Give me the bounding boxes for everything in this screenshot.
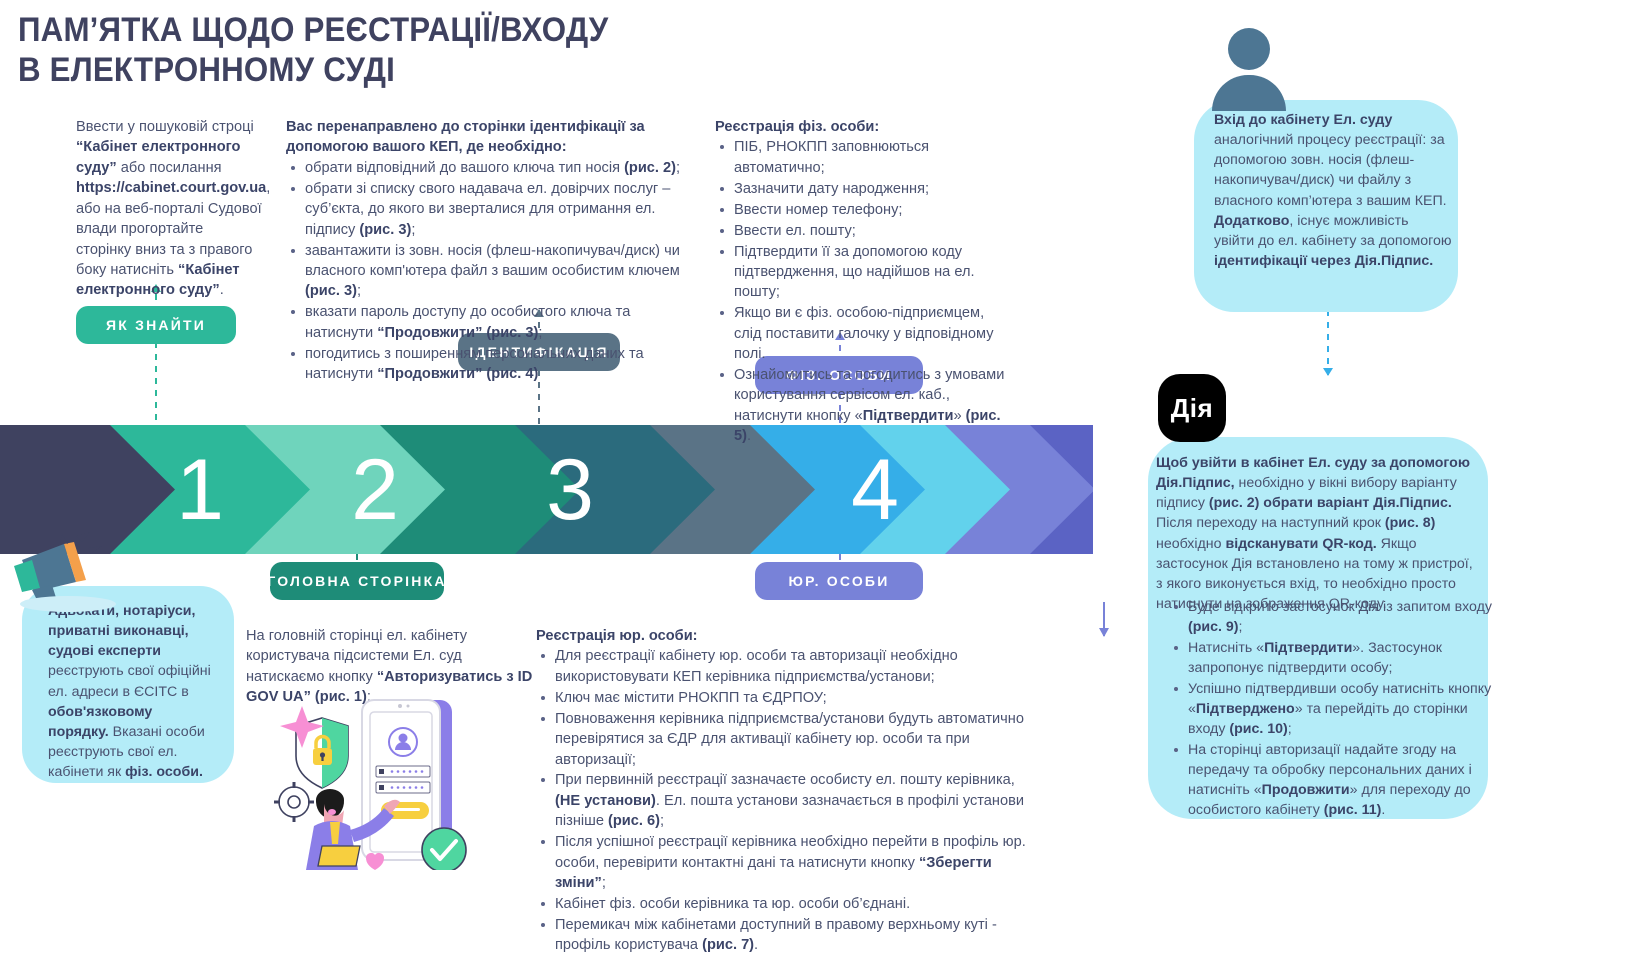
- step-number-2: 2: [330, 425, 420, 554]
- step-pill-label: ЯК ЗНАЙТИ: [106, 317, 206, 333]
- col3-bottom-heading: Реєстрація юр. особи:: [536, 626, 1042, 646]
- connector-dia: [1327, 310, 1329, 375]
- list-item: Кабінет фіз. особи керівника та юр. особ…: [553, 894, 1042, 914]
- col2-heading: Вас перенаправлено до сторінки ідентифік…: [286, 117, 700, 158]
- col2-list: обрати відповідний до вашого ключа тип н…: [286, 158, 700, 385]
- arrow-down-icon: [1099, 628, 1109, 637]
- card-dia-list: Буде відкрито застосунок Дія із запитом …: [1168, 597, 1494, 821]
- step-pill-label: ЮР. ОСОБИ: [789, 573, 890, 589]
- list-item: Перемикач між кабінетами доступний в пра…: [553, 915, 1042, 956]
- col2-text: Вас перенаправлено до сторінки ідентифік…: [286, 117, 700, 385]
- col3-heading: Реєстрація фіз. особи:: [715, 117, 1015, 137]
- card-dia-intro: Щоб увійти в кабінет Ел. суду за допомог…: [1156, 453, 1478, 614]
- dia-logo: Дія: [1158, 374, 1226, 442]
- page-title: ПАМ’ЯТКА ЩОДО РЕЄСТРАЦІЇ/ВХОДУ В ЕЛЕКТРО…: [18, 10, 608, 90]
- list-item: обрати зі списку свого надавача ел. дові…: [303, 179, 700, 240]
- list-item: Після успішної реєстрації керівника необ…: [553, 832, 1042, 893]
- connector-jur-arrow: [1103, 602, 1105, 636]
- step-pill-main-page[interactable]: ГОЛОВНА СТОРІНКА: [270, 562, 444, 600]
- list-item: обрати відповідний до вашого ключа тип н…: [303, 158, 700, 178]
- dia-logo-label: Дія: [1171, 393, 1213, 424]
- avatar-body-icon: [1212, 75, 1286, 111]
- arrow-down-icon: [1323, 368, 1333, 376]
- list-item: Натисніть «Підтвердити». Застосунок запр…: [1186, 638, 1494, 678]
- avatar-head-icon: [1228, 28, 1270, 70]
- step-number-1: 1: [155, 425, 245, 554]
- list-item: Якщо ви є фіз. особою-підприємцем, слід …: [732, 303, 1015, 364]
- col3-text: Реєстрація фіз. особи: ПІБ, РНОКПП запов…: [715, 117, 1015, 447]
- step-pill-jur-osoby[interactable]: ЮР. ОСОБИ: [755, 562, 923, 600]
- login-illustration: [258, 690, 478, 870]
- col3-bottom-list: Для реєстрації кабінету юр. особи та авт…: [536, 646, 1042, 955]
- card-lawyers-text: Адвокати, нотаріуси, приватні виконавці,…: [48, 601, 216, 782]
- list-item: завантажити із зовн. носія (флеш-накопич…: [303, 241, 700, 302]
- list-item: При первинній реєстрації зазначаєте особ…: [553, 770, 1042, 831]
- infographic-canvas: ПАМ’ЯТКА ЩОДО РЕЄСТРАЦІЇ/ВХОДУ В ЕЛЕКТРО…: [0, 0, 1640, 924]
- step-pill-how-to-find[interactable]: ЯК ЗНАЙТИ: [76, 306, 236, 344]
- list-item: Успішно підтвердивши особу натисніть кно…: [1186, 679, 1494, 739]
- step-pill-label: ГОЛОВНА СТОРІНКА: [267, 573, 446, 589]
- megaphone-icon: [2, 530, 122, 612]
- list-item: Ввести ел. пошту;: [732, 221, 1015, 241]
- list-item: Буде відкрито застосунок Дія із запитом …: [1186, 597, 1494, 637]
- list-item: Ввести номер телефону;: [732, 200, 1015, 220]
- col1-text: Ввести у пошуковій строці “Кабінет елект…: [76, 117, 262, 301]
- card-login-text: Вхід до кабінету Ел. суду аналогічний пр…: [1214, 110, 1452, 271]
- list-item: Повноваження керівника підприємства/уста…: [553, 709, 1042, 770]
- list-item: Підтвердити її за допомогою коду підтвер…: [732, 242, 1015, 303]
- col3-list: ПІБ, РНОКПП заповнюються автоматично;Заз…: [715, 137, 1015, 446]
- step-number-3: 3: [525, 425, 615, 554]
- col3-bottom-text: Реєстрація юр. особи: Для реєстрації каб…: [536, 626, 1042, 956]
- list-item: ПІБ, РНОКПП заповнюються автоматично;: [732, 137, 1015, 178]
- list-item: Зазначити дату народження;: [732, 179, 1015, 199]
- list-item: погодитись з поширенням персональних дан…: [303, 344, 700, 385]
- list-item: Для реєстрації кабінету юр. особи та авт…: [553, 646, 1042, 687]
- list-item: вказати пароль доступу до особистого клю…: [303, 302, 700, 343]
- list-item: Ключ має містити РНОКПП та ЄДРПОУ;: [553, 688, 1042, 708]
- list-item: На сторінці авторизації надайте згоду на…: [1186, 740, 1494, 821]
- list-item: Ознайомитись та погодитись з умовами кор…: [732, 365, 1015, 447]
